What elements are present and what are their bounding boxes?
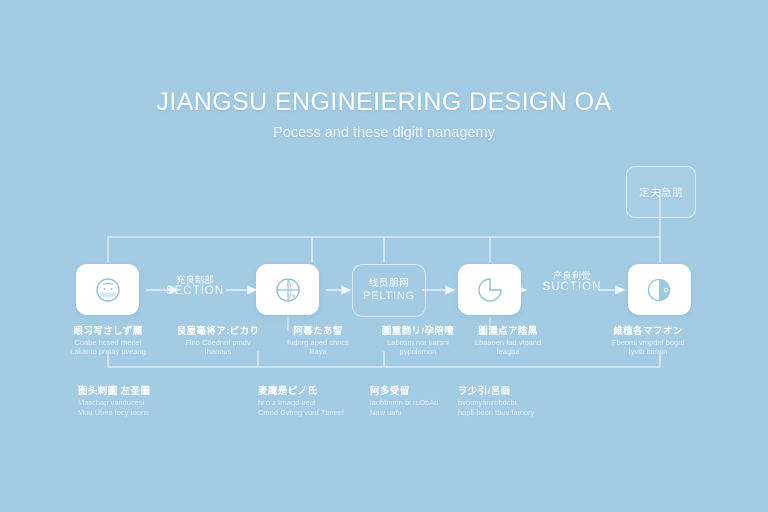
caption-6-line1: Fbeoml vmpdnf bognl [588, 338, 708, 347]
clock-dial-icon [475, 275, 505, 305]
footer-1-line1: Mascbap vanducesi [78, 398, 228, 408]
footer-block-1: 图头刺圖 左圣圖 Mascbap vanducesi Moa Ubeo focy… [78, 386, 228, 418]
caption-5-line2: feagba [448, 347, 568, 356]
step-label-1-roman: SECTION [150, 285, 240, 298]
footer-1-cjk: 图头刺圖 左圣圖 [78, 386, 228, 398]
node-chip[interactable] [256, 264, 319, 315]
footer-block-4: ヲ少引/呂画 bvoonyanzobdcbt hopll-boon tbuv f… [458, 386, 608, 418]
step-label-1: 充良制部 SECTION [150, 275, 240, 299]
footer-4-line2: hopll-boon tbuv famory [458, 408, 608, 418]
node-caption-1: 眼习写さしず麗 Coabe hcsed rhecef Lakanto pnoay… [48, 326, 168, 357]
process-node-2[interactable] [256, 264, 319, 315]
caption-1-line2: Lakanto pnoay pveang [48, 347, 168, 356]
connector-lines [0, 0, 768, 512]
caption-1-line1: Coabe hcsed rhecef [48, 338, 168, 347]
diagram-canvas: JIANGSU ENGINEIERING DESIGN OA Pocess an… [0, 0, 768, 512]
aux-node-label: 定夫急朋 [639, 185, 683, 200]
step-label-1-cjk: 充良制部 [150, 275, 240, 285]
caption-5-line1: Lbaaoen fad vtoand [448, 338, 568, 347]
step-label-2-cjk: 产良利觉 [527, 271, 617, 281]
process-node-4[interactable] [458, 264, 521, 315]
globe-crosshair-icon [273, 275, 303, 305]
pie-contrast-icon [645, 275, 675, 305]
caption-6-cjk: 維植各マフオン [588, 326, 708, 338]
node-3-roman-label: PELTING [363, 290, 415, 303]
footer-1-line2: Moa Ubeo focy toons [78, 408, 228, 418]
node-chip[interactable] [458, 264, 521, 315]
node-chip[interactable] [76, 264, 139, 315]
step-label-2: 产良利觉 SUCTION [527, 271, 617, 295]
caption-1-cjk: 眼习写さしず麗 [48, 326, 168, 338]
caption-6-line2: fyvtb btmon [588, 347, 708, 356]
node-chip[interactable] [628, 264, 691, 315]
node-3-cjk-label: 线员朋网 [369, 279, 409, 290]
process-node-3[interactable]: 线员朋网 PELTING [352, 264, 424, 315]
node-caption-5: 圖濃点ア陰黒 Lbaaoen fad vtoand feagba [448, 326, 568, 357]
caption-5-cjk: 圖濃点ア陰黒 [448, 326, 568, 338]
step-label-2-roman: SUCTION [527, 281, 617, 294]
node-chip[interactable]: 线员朋网 PELTING [352, 264, 426, 317]
process-node-1[interactable] [76, 264, 139, 315]
node-caption-6: 維植各マフオン Fbeoml vmpdnf bognl fyvtb btmon [588, 326, 708, 357]
aux-node-box[interactable]: 定夫急朋 [626, 166, 696, 218]
face-avatar-icon [93, 275, 123, 305]
footer-4-cjk: ヲ少引/呂画 [458, 386, 608, 398]
footer-4-line1: bvoonyanzobdcbt [458, 398, 608, 408]
process-node-5[interactable] [628, 264, 691, 315]
